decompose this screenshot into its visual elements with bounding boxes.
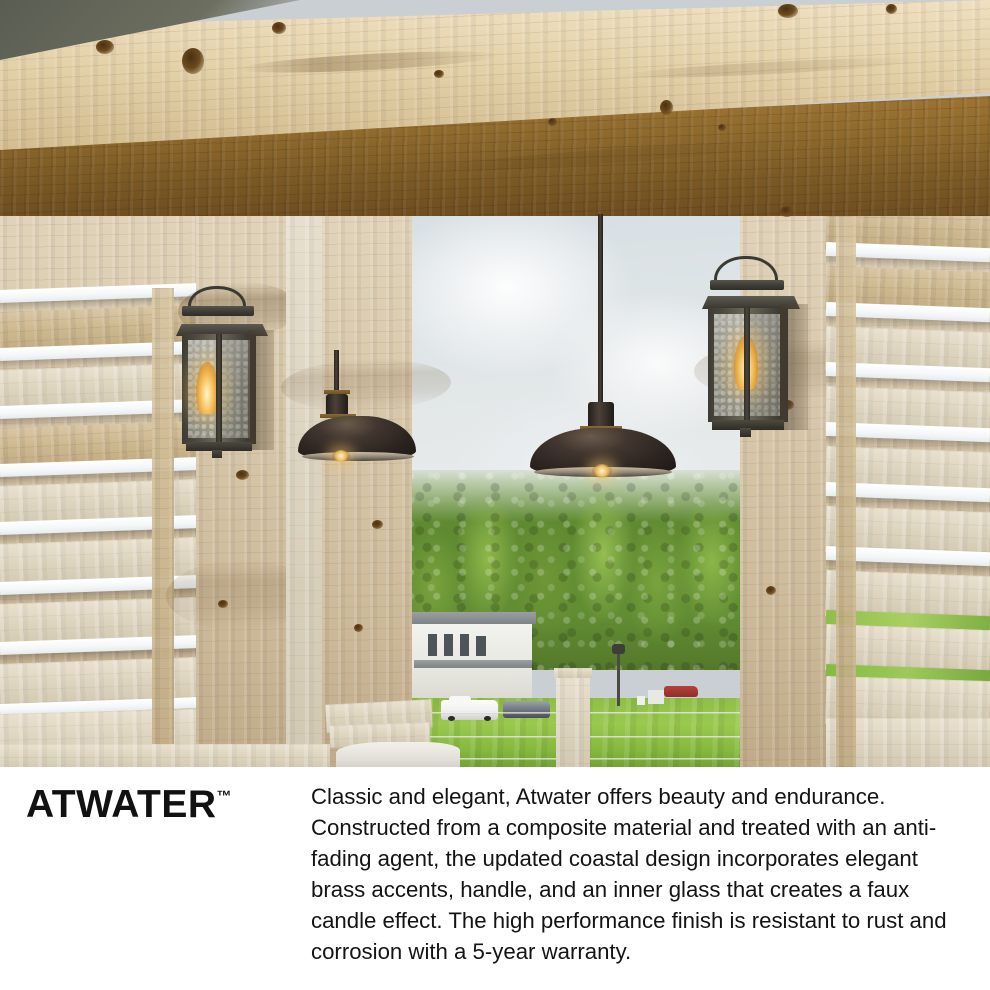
lantern-candle-glow bbox=[196, 362, 218, 414]
pendant-light-center bbox=[520, 214, 690, 480]
pendant-bulb bbox=[332, 450, 350, 462]
pendant-shade-rim bbox=[302, 452, 414, 461]
building-roof bbox=[404, 612, 536, 624]
trademark-icon: ™ bbox=[217, 788, 232, 805]
lantern-finial bbox=[740, 428, 751, 437]
building-window bbox=[444, 634, 453, 656]
building-window bbox=[476, 636, 486, 656]
truck-cab bbox=[449, 696, 471, 703]
lantern-frame-post bbox=[744, 308, 750, 422]
field-lamp-post bbox=[617, 650, 620, 706]
building-porch-roof bbox=[414, 660, 532, 668]
red-vehicle bbox=[664, 686, 698, 697]
brand-name-text: ATWATER bbox=[26, 783, 217, 826]
distant-wall-band bbox=[286, 200, 326, 767]
lantern-handle bbox=[714, 256, 778, 282]
field-object bbox=[637, 696, 645, 705]
dark-car bbox=[503, 701, 550, 718]
wall-lantern-left bbox=[176, 286, 288, 470]
foreground-stone bbox=[336, 742, 460, 767]
product-description: Classic and elegant, Atwater offers beau… bbox=[311, 781, 957, 967]
pendant-bulb bbox=[592, 464, 612, 478]
field-object bbox=[648, 690, 664, 704]
wall-lantern-right bbox=[700, 256, 816, 446]
building-window bbox=[428, 634, 437, 656]
lantern-glass-panel bbox=[222, 340, 250, 438]
pendant-light-left bbox=[306, 350, 416, 470]
pendant-neck bbox=[588, 402, 614, 428]
foreground-post bbox=[556, 672, 590, 767]
louver-mullion-right bbox=[836, 176, 856, 767]
foreground-post-cap bbox=[554, 668, 592, 678]
lantern-backplate bbox=[780, 304, 808, 430]
lantern-cap bbox=[710, 280, 784, 290]
field-lamp-head bbox=[612, 644, 625, 654]
lantern-frame-post bbox=[216, 334, 222, 444]
lantern-handle bbox=[188, 286, 246, 308]
timber-post-center-left bbox=[322, 178, 412, 767]
pendant-stem bbox=[598, 214, 603, 404]
product-photo bbox=[0, 0, 990, 767]
lantern-cap bbox=[182, 306, 254, 316]
pendant-neck bbox=[326, 394, 348, 416]
louver-mullion-left bbox=[152, 288, 174, 767]
brand-name: ATWATER™ bbox=[26, 783, 232, 827]
product-sheet-page: ATWATER™ Classic and elegant, Atwater of… bbox=[0, 0, 990, 990]
truck-wheel bbox=[448, 716, 455, 721]
building-window bbox=[460, 634, 469, 656]
lantern-backplate bbox=[248, 330, 274, 450]
lantern-finial bbox=[212, 450, 222, 458]
product-info-panel: ATWATER™ Classic and elegant, Atwater of… bbox=[0, 767, 990, 990]
bottom-rail bbox=[0, 744, 330, 767]
pendant-stem bbox=[334, 350, 339, 394]
truck-wheel bbox=[484, 716, 491, 721]
